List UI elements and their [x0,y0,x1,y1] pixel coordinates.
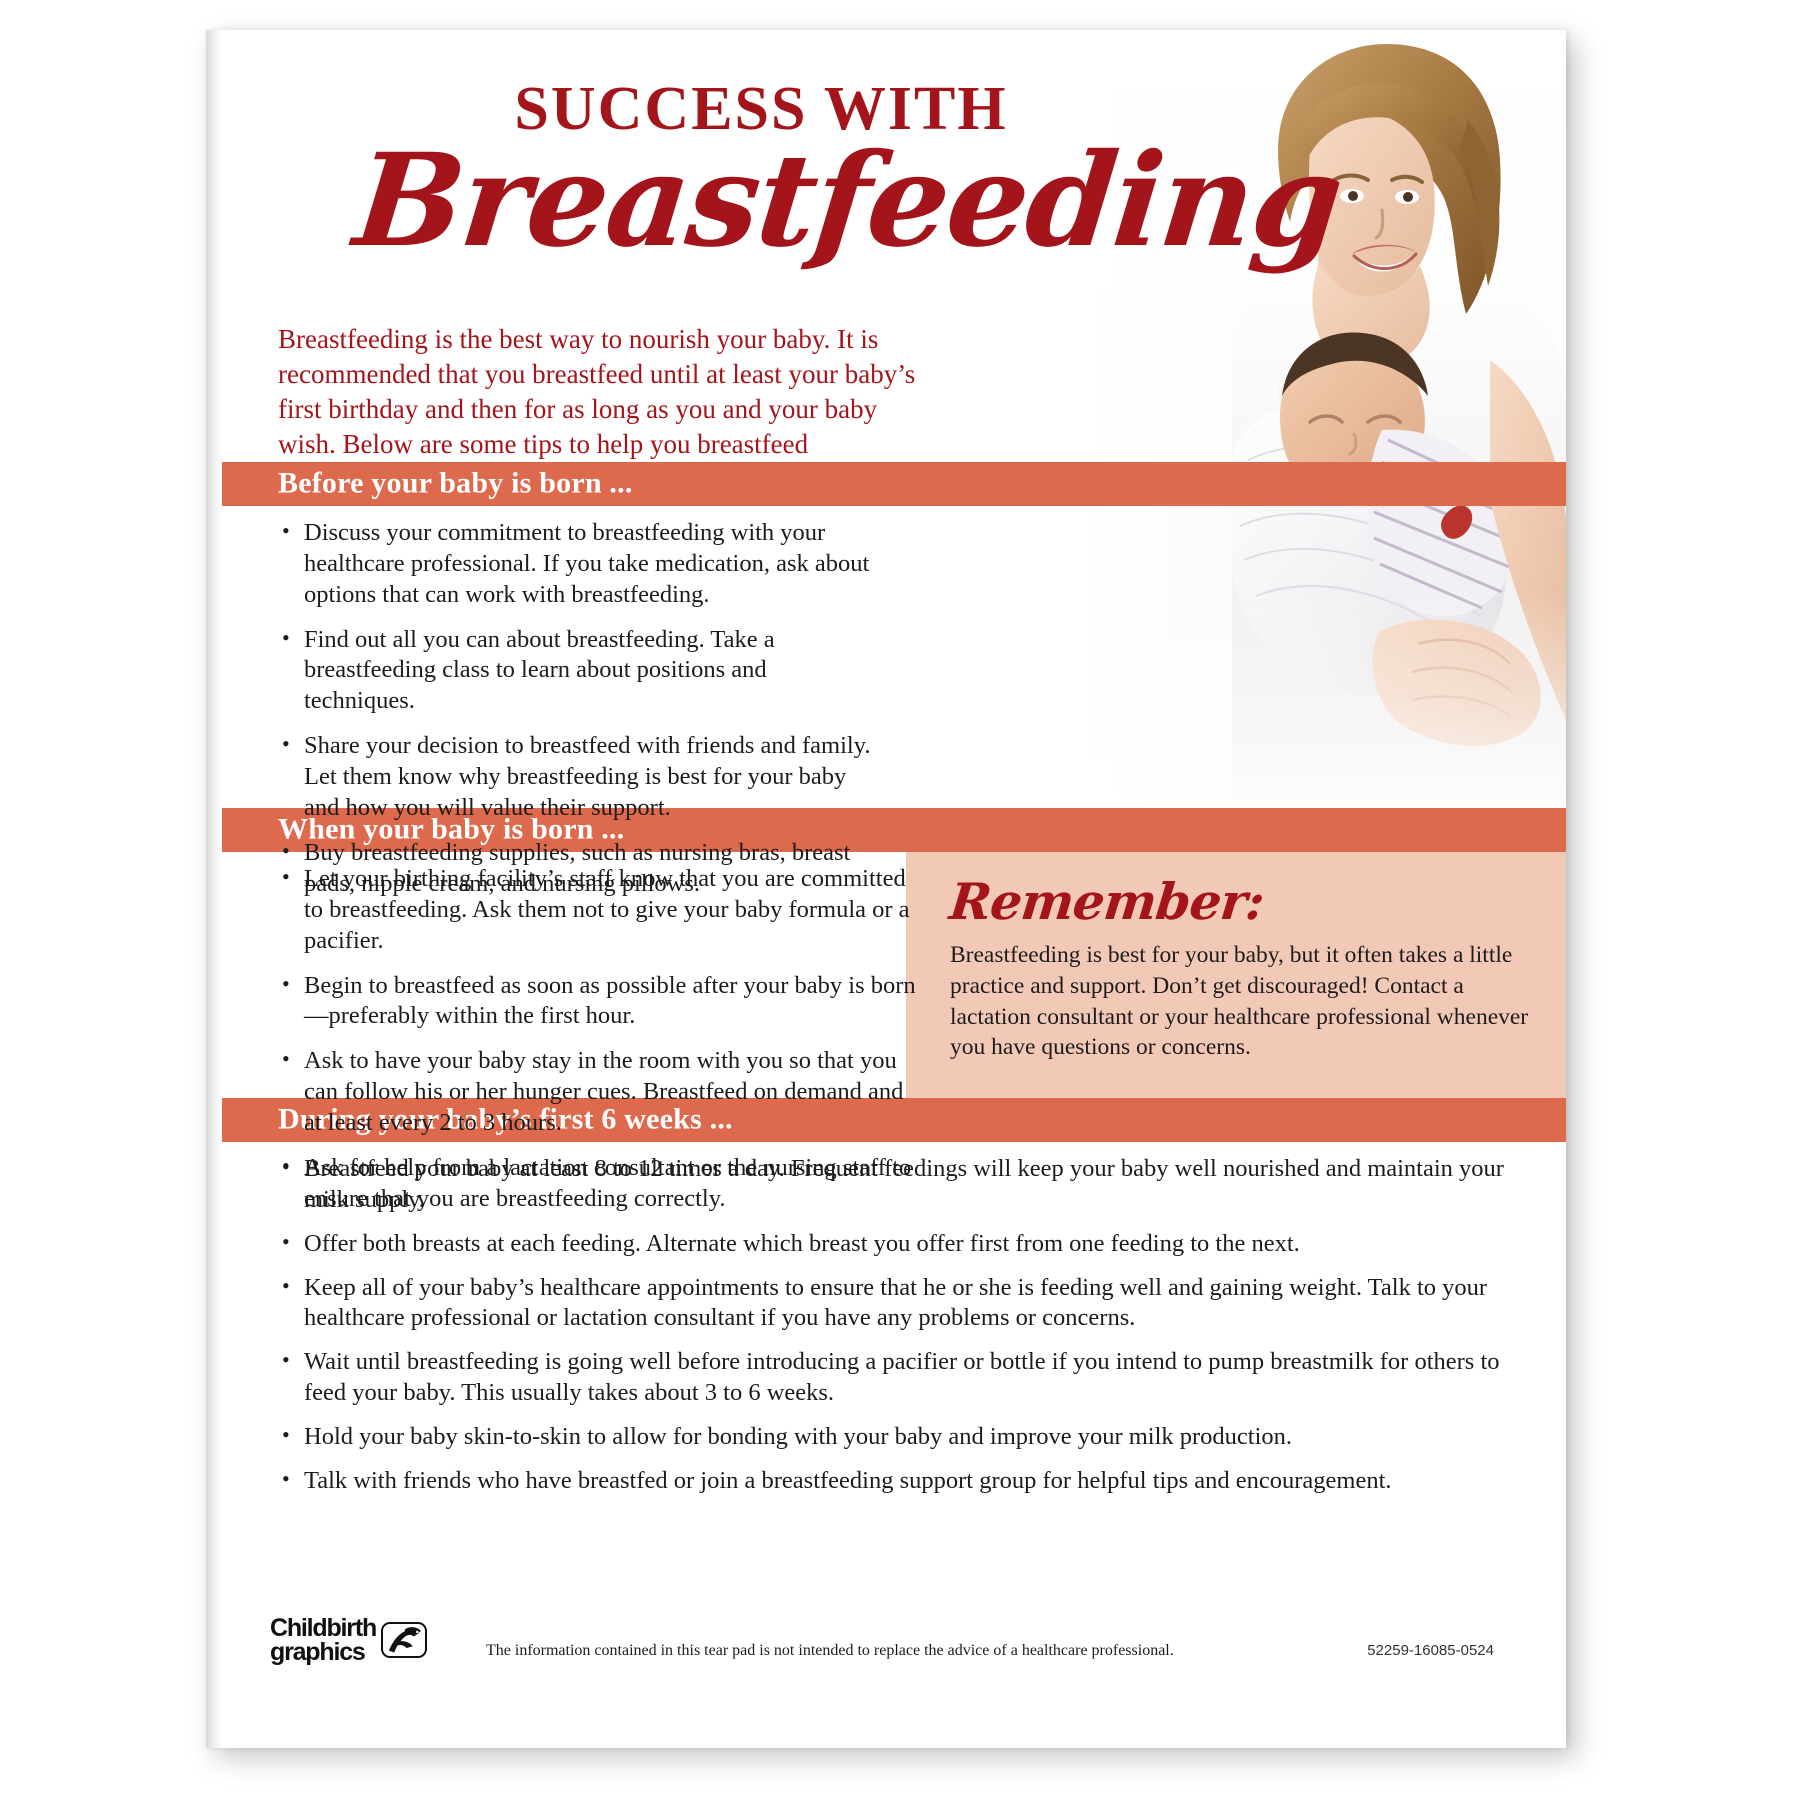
list-item: Talk with friends who have breastfed or … [278,1466,1508,1497]
remember-callout-panel: Remember: Breastfeeding is best for your… [906,852,1566,1098]
list-item: Begin to breastfeed as soon as possible … [278,971,918,1033]
list-item: Let your birthing facility’s staff know … [278,864,918,957]
disclaimer-text: The information contained in this tear p… [486,1642,1174,1660]
poster-footer: Childbirth graphics The information cont… [206,1598,1566,1748]
section-header-before-birth: Before your baby is born ... [206,462,1566,506]
list-item: Find out all you can about breastfeeding… [278,625,878,718]
list-item: Hold your baby skin-to-skin to allow for… [278,1422,1508,1453]
poster-header: SUCCESS WITH Breastfeeding [206,78,1166,267]
list-item: Keep all of your baby’s healthcare appoi… [278,1273,1508,1335]
section-heading-label: Before your baby is born ... [278,466,633,500]
logo-wordmark: Childbirth graphics [270,1616,376,1664]
section-list-first-6-weeks: Breastfeed your baby at least 8 to 12 ti… [278,1154,1508,1510]
screenshot-canvas: SUCCESS WITH Breastfeeding Breastfeeding… [0,0,1800,1800]
list-item: Share your decision to breastfeed with f… [278,731,878,824]
list-item: Wait until breastfeeding is going well b… [278,1347,1508,1409]
list-item: Ask to have your baby stay in the room w… [278,1046,918,1139]
list-item: Breastfeed your baby at least 8 to 12 ti… [278,1154,1508,1216]
list-item: Offer both breasts at each feeding. Alte… [278,1229,1508,1260]
page-title: Breastfeeding [206,136,1173,267]
remember-title: Remember: [947,872,1267,931]
list-item: Discuss your commitment to breastfeeding… [278,518,878,611]
item-number: 52259-16085-0524 [1367,1642,1494,1659]
childbirth-graphics-logo: Childbirth graphics [270,1616,427,1664]
logo-line-2: graphics [270,1640,376,1664]
poster-sheet: SUCCESS WITH Breastfeeding Breastfeeding… [206,30,1566,1748]
section-list-before-birth: Discuss your commitment to breastfeeding… [278,518,878,913]
stork-icon [381,1622,427,1658]
remember-body-text: Breastfeeding is best for your baby, but… [950,940,1530,1063]
